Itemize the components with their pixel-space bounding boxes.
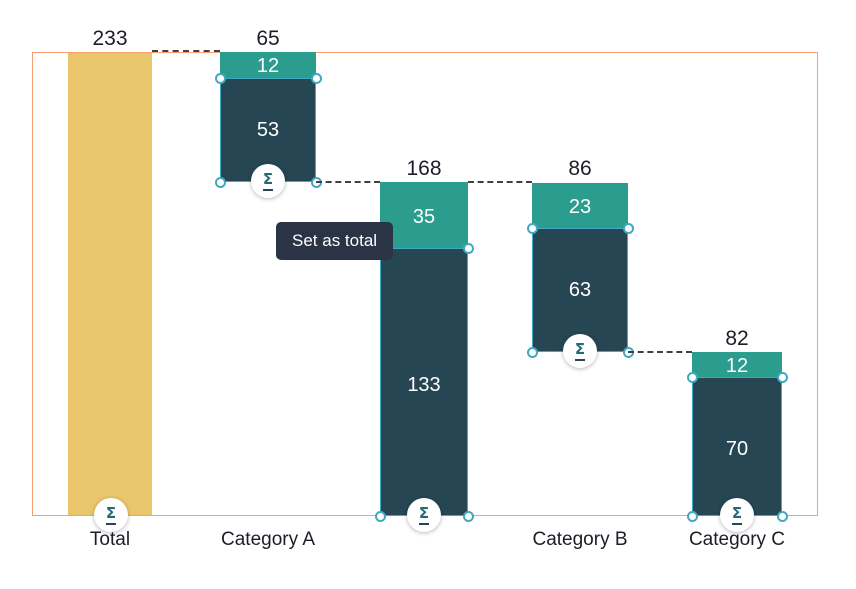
resize-handle-mid-top-right[interactable] [463, 243, 474, 254]
connector-cat-b-to-cat-c [628, 351, 692, 353]
axis-label-category-b: Category B [510, 530, 650, 549]
set-as-total-button-cat-a[interactable]: Σ [251, 164, 285, 198]
resize-handle-cat-c-bottom-left[interactable] [687, 511, 698, 522]
resize-handle-mid-bottom-left[interactable] [375, 511, 386, 522]
bar-mid-delta-segment[interactable]: 35 [380, 182, 468, 248]
bar-mid-base-segment[interactable]: 133 [380, 248, 468, 516]
sigma-icon: Σ [106, 506, 116, 525]
bar-cat-b-delta-segment[interactable]: 23 [532, 183, 628, 228]
bar-cat-c-base-segment[interactable]: 70 [692, 377, 782, 516]
bar-total-gold[interactable] [68, 53, 152, 515]
bar-cat-c-delta-segment[interactable]: 12 [692, 352, 782, 377]
resize-handle-cat-c-top-right[interactable] [777, 372, 788, 383]
bar-cat-c-base-label: 70 [692, 439, 782, 459]
bar-mid-base-label: 133 [380, 375, 468, 395]
bar-cat-b[interactable]: 23 63 [532, 183, 628, 352]
resize-handle-cat-b-bottom-left[interactable] [527, 347, 538, 358]
sigma-icon: Σ [732, 506, 742, 525]
bar-cat-b-base-label: 63 [532, 280, 628, 300]
bar-cat-a-base-label: 53 [220, 120, 316, 140]
resize-handle-mid-bottom-right[interactable] [463, 511, 474, 522]
resize-handle-cat-a-bottom-left[interactable] [215, 177, 226, 188]
bar-cat-a-delta-label: 12 [220, 56, 316, 76]
connector-total-to-cat-a [152, 50, 220, 52]
bar-cat-c[interactable]: 12 70 [692, 352, 782, 516]
set-as-total-button-cat-b[interactable]: Σ [563, 334, 597, 368]
resize-handle-cat-a-top-left[interactable] [215, 73, 226, 84]
bar-cat-c-delta-label: 12 [692, 356, 782, 376]
bar-cat-b-value-label: 86 [510, 158, 650, 179]
bar-cat-b-delta-label: 23 [532, 197, 628, 217]
bar-mid[interactable]: 35 133 [380, 182, 468, 516]
bar-mid-value-label: 168 [354, 158, 494, 179]
bar-cat-c-value-label: 82 [667, 328, 807, 349]
connector-mid-to-cat-b [468, 181, 532, 183]
bar-total-value-label: 233 [40, 28, 180, 49]
bar-cat-a[interactable]: 12 53 [220, 52, 316, 182]
resize-handle-cat-c-bottom-right[interactable] [777, 511, 788, 522]
sigma-icon: Σ [575, 342, 585, 361]
resize-handle-cat-b-top-left[interactable] [527, 223, 538, 234]
waterfall-chart-canvas: 233 Σ 65 12 53 Σ 168 35 133 Σ [0, 0, 856, 589]
resize-handle-cat-c-top-left[interactable] [687, 372, 698, 383]
connector-cat-a-to-mid [316, 181, 380, 183]
set-as-total-button-cat-c[interactable]: Σ [720, 498, 754, 532]
bar-cat-a-value-label: 65 [198, 28, 338, 49]
resize-handle-cat-a-top-right[interactable] [311, 73, 322, 84]
bar-mid-delta-label: 35 [380, 207, 468, 227]
axis-label-total: Total [40, 530, 180, 549]
set-as-total-button-total[interactable]: Σ [94, 498, 128, 532]
resize-handle-cat-b-top-right[interactable] [623, 223, 634, 234]
set-as-total-tooltip: Set as total [276, 222, 393, 260]
set-as-total-button-mid[interactable]: Σ [407, 498, 441, 532]
axis-label-category-a: Category A [198, 530, 338, 549]
sigma-icon: Σ [419, 506, 429, 525]
bar-cat-a-delta-segment[interactable]: 12 [220, 52, 316, 78]
sigma-icon: Σ [263, 172, 273, 191]
axis-label-category-c: Category C [667, 530, 807, 549]
